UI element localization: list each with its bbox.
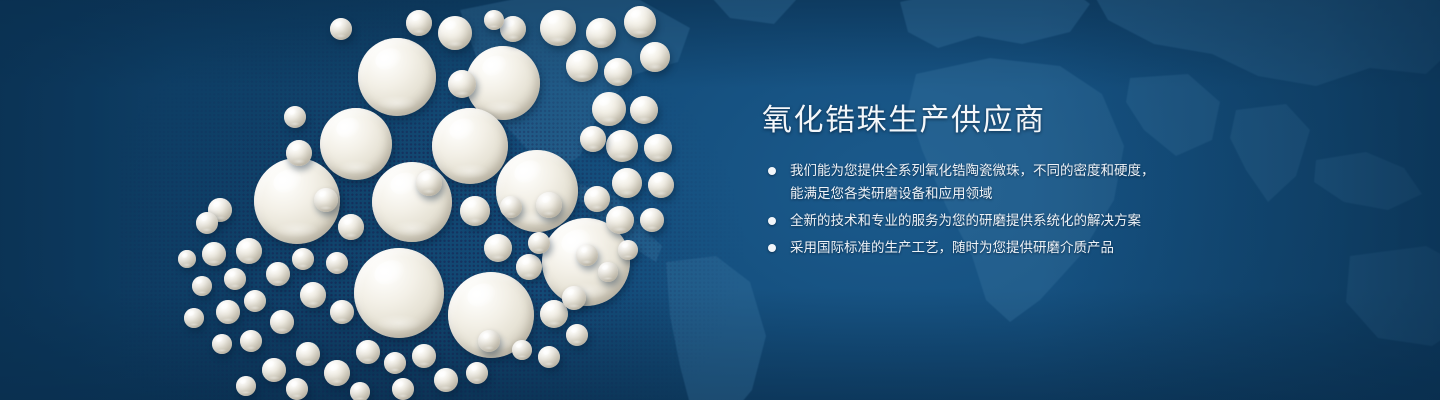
bead-medium (644, 134, 672, 162)
bead-medium (314, 188, 338, 212)
bead-small (392, 378, 414, 400)
bullet-dot-icon (768, 217, 776, 225)
bead-medium (580, 126, 606, 152)
bead-small (512, 340, 532, 360)
bead-medium (606, 130, 638, 162)
bead-small (240, 330, 262, 352)
bead-small (192, 276, 212, 296)
bead-small (384, 352, 406, 374)
bead-medium (516, 254, 542, 280)
bead-small (196, 212, 218, 234)
list-item: 采用国际标准的生产工艺，随时为您提供研磨介质产品 (762, 237, 1282, 259)
bead-medium (236, 238, 262, 264)
list-item-line: 能满足您各类研磨设备和应用领域 (790, 183, 1282, 205)
list-item: 我们能为您提供全系列氧化锆陶瓷微珠，不同的密度和硬度， 能满足您各类研磨设备和应… (762, 160, 1282, 205)
bead-small (236, 376, 256, 396)
banner-copy: 氧化锆珠生产供应商 我们能为您提供全系列氧化锆陶瓷微珠，不同的密度和硬度， 能满… (762, 104, 1282, 264)
bead-medium (416, 170, 442, 196)
bead-small (296, 342, 320, 366)
bullet-dot-icon (768, 244, 776, 252)
bead-small (224, 268, 246, 290)
bead-medium (624, 6, 656, 38)
bead-medium (604, 58, 632, 86)
bead-small (326, 252, 348, 274)
bead-medium (536, 192, 562, 218)
bead-medium (484, 234, 512, 262)
bead-medium (566, 50, 598, 82)
feature-list: 我们能为您提供全系列氧化锆陶瓷微珠，不同的密度和硬度， 能满足您各类研磨设备和应… (762, 160, 1282, 259)
bead-small (478, 330, 500, 352)
bead-small (576, 244, 598, 266)
bead-medium (606, 206, 634, 234)
bead-large (496, 150, 578, 232)
bead-large (372, 162, 452, 242)
bead-small (292, 248, 314, 270)
bead-small (212, 334, 232, 354)
bead-small (350, 382, 370, 400)
bead-medium (540, 10, 576, 46)
bead-medium (586, 18, 616, 48)
bead-small (266, 262, 290, 286)
bead-small (270, 310, 294, 334)
bead-medium (648, 172, 674, 198)
list-item: 全新的技术和专业的服务为您的研磨提供系统化的解决方案 (762, 210, 1282, 232)
bead-medium (640, 208, 664, 232)
bead-small (330, 300, 354, 324)
bead-small (178, 250, 196, 268)
bead-medium (338, 214, 364, 240)
bead-small (562, 286, 586, 310)
page-title: 氧化锆珠生产供应商 (762, 104, 1282, 138)
bead-medium (406, 10, 432, 36)
bead-small (324, 360, 350, 386)
bead-small (244, 290, 266, 312)
bead-medium (438, 16, 472, 50)
bead-small (412, 344, 436, 368)
bead-medium (448, 70, 476, 98)
bead-small (434, 368, 458, 392)
bead-small (618, 240, 638, 260)
bead-small (262, 358, 286, 382)
bead-small (528, 232, 550, 254)
bead-small (566, 324, 588, 346)
bead-small (356, 340, 380, 364)
bead-medium (630, 96, 658, 124)
list-item-line: 采用国际标准的生产工艺，随时为您提供研磨介质产品 (790, 237, 1282, 259)
bead-medium (612, 168, 642, 198)
hero-banner: 氧化锆珠生产供应商 我们能为您提供全系列氧化锆陶瓷微珠，不同的密度和硬度， 能满… (0, 0, 1440, 400)
bead-medium (584, 186, 610, 212)
bead-small (500, 196, 522, 218)
bead-medium (286, 140, 312, 166)
bead-small (184, 308, 204, 328)
bead-large (358, 38, 436, 116)
bullet-dot-icon (768, 167, 776, 175)
bead-large (320, 108, 392, 180)
bead-small (484, 10, 504, 30)
bead-medium (640, 42, 670, 72)
bead-small (538, 346, 560, 368)
list-item-line: 全新的技术和专业的服务为您的研磨提供系统化的解决方案 (790, 210, 1282, 232)
bead-medium (460, 196, 490, 226)
bead-small (286, 378, 308, 400)
bead-small (466, 362, 488, 384)
list-item-line: 我们能为您提供全系列氧化锆陶瓷微珠，不同的密度和硬度， (790, 160, 1282, 182)
bead-large (354, 248, 444, 338)
bead-medium (592, 92, 626, 126)
bead-small (300, 282, 326, 308)
bead-small (330, 18, 352, 40)
bead-large (432, 108, 508, 184)
bead-small (284, 106, 306, 128)
bead-small (216, 300, 240, 324)
bead-small (598, 262, 618, 282)
bead-small (202, 242, 226, 266)
